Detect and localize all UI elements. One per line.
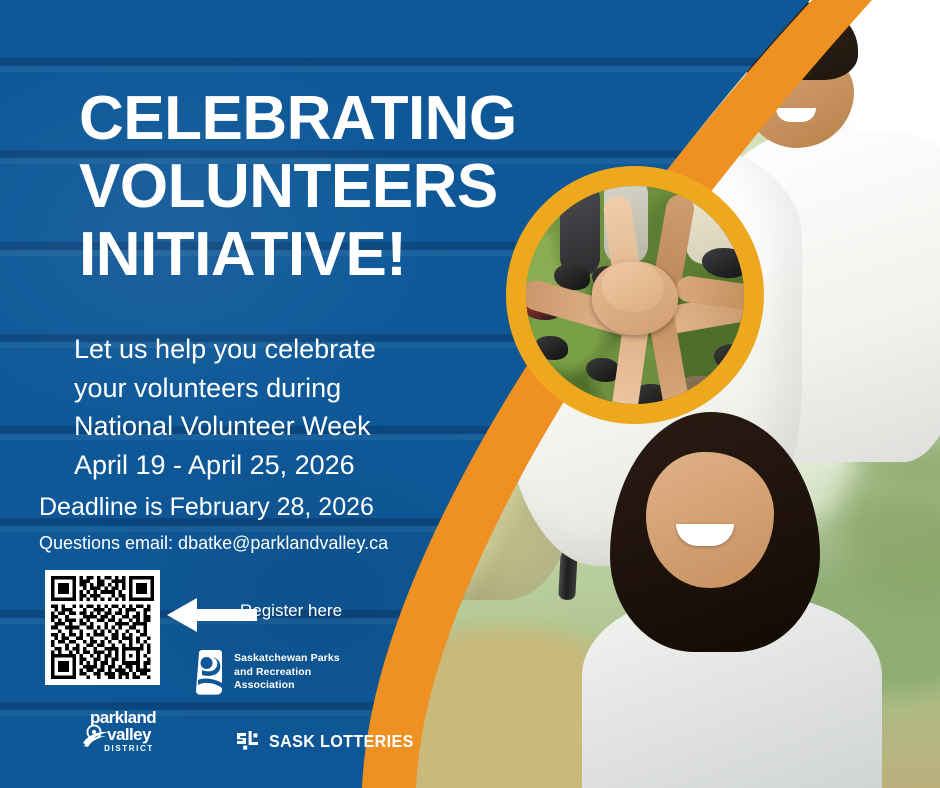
parkland-valley-district-logo: parkland valley DISTRICT (69, 706, 177, 754)
spra-logo-text: Saskatchewan Parks and Recreation Associ… (234, 652, 340, 694)
body-copy: Let us help you celebrate your volunteer… (74, 330, 376, 484)
foliage-blob (360, 640, 620, 788)
circular-inset-photo (506, 166, 764, 424)
deadline-text: Deadline is February 28, 2026 (39, 493, 374, 522)
body-line-1: Let us help you celebrate (74, 330, 376, 369)
body-line-2: your volunteers during (74, 369, 376, 408)
page-title: CELEBRATING VOLUNTEERS INITIATIVE! (79, 85, 517, 290)
qr-code[interactable] (45, 570, 160, 685)
qr-code-image (51, 576, 154, 679)
grass-background (526, 186, 744, 404)
body-line-4: April 19 - April 25, 2026 (74, 446, 376, 485)
pvd-word-valley: valley (107, 725, 152, 744)
parkland-valley-logo-art: parkland valley DISTRICT (69, 706, 177, 754)
headline-line-3: INITIATIVE! (79, 221, 517, 289)
questions-email-text: Questions email: dbatke@parklandvalley.c… (39, 533, 388, 554)
sask-lotteries-name: SASK LOTTERIES (269, 731, 414, 752)
spra-logo: Saskatchewan Parks and Recreation Associ… (196, 650, 340, 695)
spra-text-line-3: Association (234, 679, 340, 693)
spra-text-line-2: and Recreation (234, 666, 340, 680)
shoe (534, 336, 568, 360)
headline-line-1: CELEBRATING (79, 85, 517, 153)
pants (560, 180, 600, 276)
headline-line-2: VOLUNTEERS (79, 153, 517, 221)
pvd-word-district: DISTRICT (104, 744, 154, 753)
shoe (702, 248, 748, 278)
register-here-label: Register here (240, 601, 342, 621)
poster-canvas: VOLUNTEER VOLUNTEER (0, 0, 940, 788)
sask-lotteries-logo: SASK LOTTERIES (237, 731, 426, 752)
spra-mark-icon (196, 650, 225, 695)
spra-text-line-1: Saskatchewan Parks (234, 652, 340, 666)
body-line-3: National Volunteer Week (74, 407, 376, 446)
sask-lotteries-mark-icon (237, 731, 261, 752)
stacked-hands-top (602, 262, 664, 312)
